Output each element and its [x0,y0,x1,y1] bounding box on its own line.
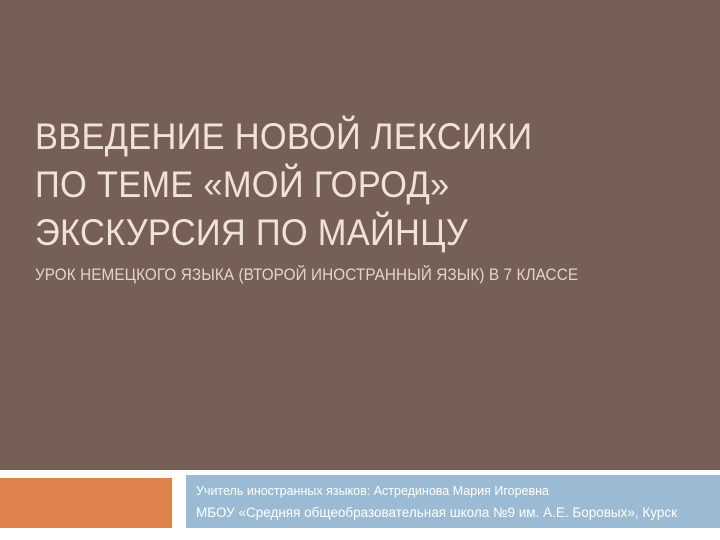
title-block: ВВЕДЕНИЕ НОВОЙ ЛЕКСИКИ ПО ТЕМЕ «МОЙ ГОРО… [35,113,685,288]
footer-block: Учитель иностранных языков: Астрединова … [186,475,720,528]
footer-line-school: МБОУ «Средняя общеобразовательная школа … [196,502,720,524]
footer-line-teacher: Учитель иностранных языков: Астрединова … [196,481,720,502]
subtitle-text: УРОК НЕМЕЦКОГО ЯЗЫКА (ВТОРОЙ ИНОСТРАННЫЙ… [35,261,620,288]
accent-bar [0,478,172,528]
title-line-3: ЭКСКУРСИЯ ПО МАЙНЦУ [35,209,640,257]
presentation-slide: ВВЕДЕНИЕ НОВОЙ ЛЕКСИКИ ПО ТЕМЕ «МОЙ ГОРО… [0,0,720,540]
title-line-2: ПО ТЕМЕ «МОЙ ГОРОД» [35,161,640,209]
title-line-1: ВВЕДЕНИЕ НОВОЙ ЛЕКСИКИ [35,113,640,161]
